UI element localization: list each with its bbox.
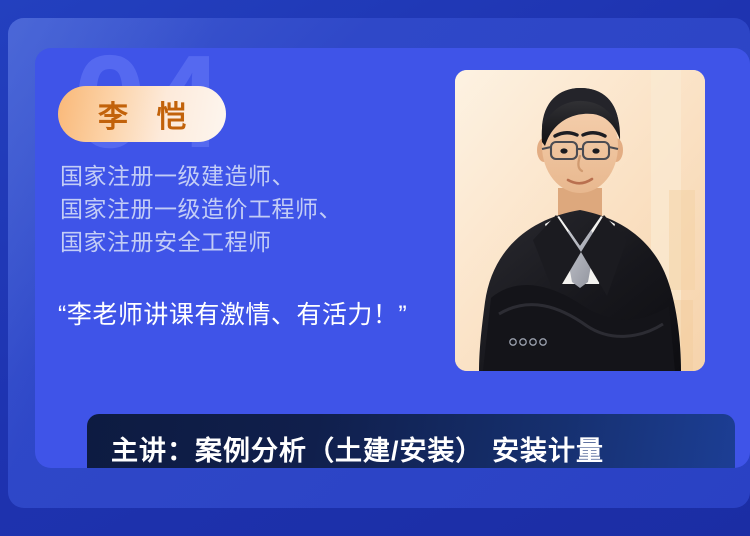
inner-content-card: 04 李 恺 国家注册一级建造师、 国家注册一级造价工程师、 国家注册安全工程师… (35, 48, 750, 468)
instructor-photo (455, 70, 705, 371)
instructor-name: 李 恺 (88, 92, 196, 136)
instructor-name-badge: 李 恺 (58, 86, 226, 142)
subject-bar: 主讲：案例分析（土建/安装） 安装计量 (87, 414, 735, 468)
instructor-credentials: 国家注册一级建造师、 国家注册一级造价工程师、 国家注册安全工程师 (60, 160, 342, 259)
teacher-profile-card: 04 李 恺 国家注册一级建造师、 国家注册一级造价工程师、 国家注册安全工程师… (0, 0, 750, 536)
subject-bar-text: 主讲：案例分析（土建/安装） 安装计量 (87, 429, 604, 468)
instructor-quote: “李老师讲课有激情、有活力！” (58, 295, 407, 331)
